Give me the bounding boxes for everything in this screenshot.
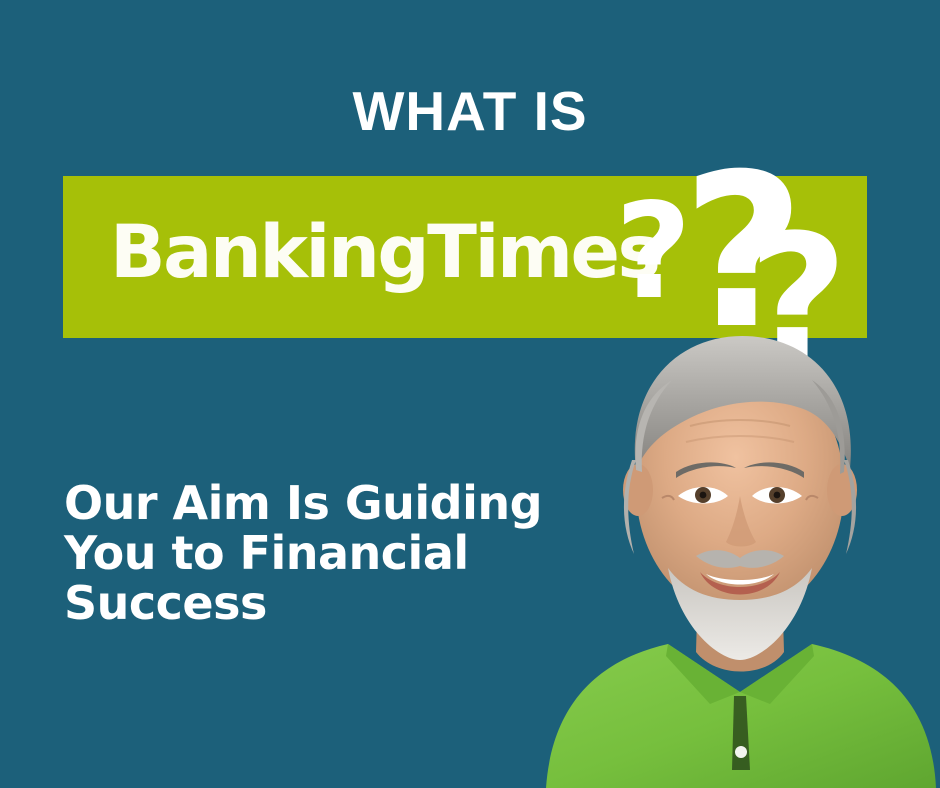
headline: Our Aim Is Guiding You to Financial Succ… xyxy=(64,478,604,628)
brand-wordmark: BankingTimes xyxy=(110,216,659,289)
eyebrow-text: WHAT IS xyxy=(0,84,940,139)
headline-line-2: You to Financial xyxy=(64,528,604,578)
headline-line-1: Our Aim Is Guiding xyxy=(64,478,604,528)
poster-canvas: WHAT IS BankingTimes ? ? ? xyxy=(0,0,940,788)
headline-line-3: Success xyxy=(64,578,604,628)
question-mark-small-icon: ? xyxy=(615,186,692,318)
